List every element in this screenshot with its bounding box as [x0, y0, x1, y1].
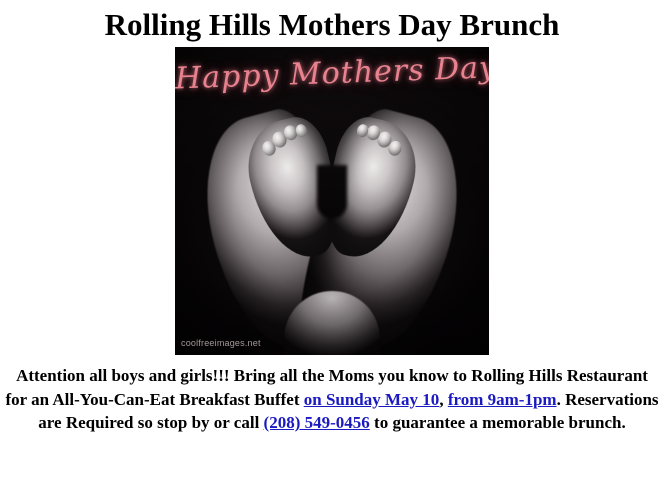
- page-title: Rolling Hills Mothers Day Brunch: [0, 0, 664, 47]
- heart-notch: [317, 165, 347, 219]
- mothers-day-photo: Happy Mothers Day coolfreeimages.net: [175, 47, 489, 355]
- link-phone-number[interactable]: (208) 549-0456: [264, 413, 370, 432]
- hero-image-container: Happy Mothers Day coolfreeimages.net: [0, 47, 664, 355]
- body-text-comma: ,: [439, 390, 448, 409]
- link-9am-1pm[interactable]: from 9am-1pm: [448, 390, 557, 409]
- page-root: Rolling Hills Mothers Day Brunch: [0, 0, 664, 485]
- body-text-outro: to guarantee a memorable brunch.: [370, 413, 626, 432]
- body-paragraph: Attention all boys and girls!!! Bring al…: [0, 355, 664, 435]
- link-sunday-may-10[interactable]: on Sunday May 10: [304, 390, 440, 409]
